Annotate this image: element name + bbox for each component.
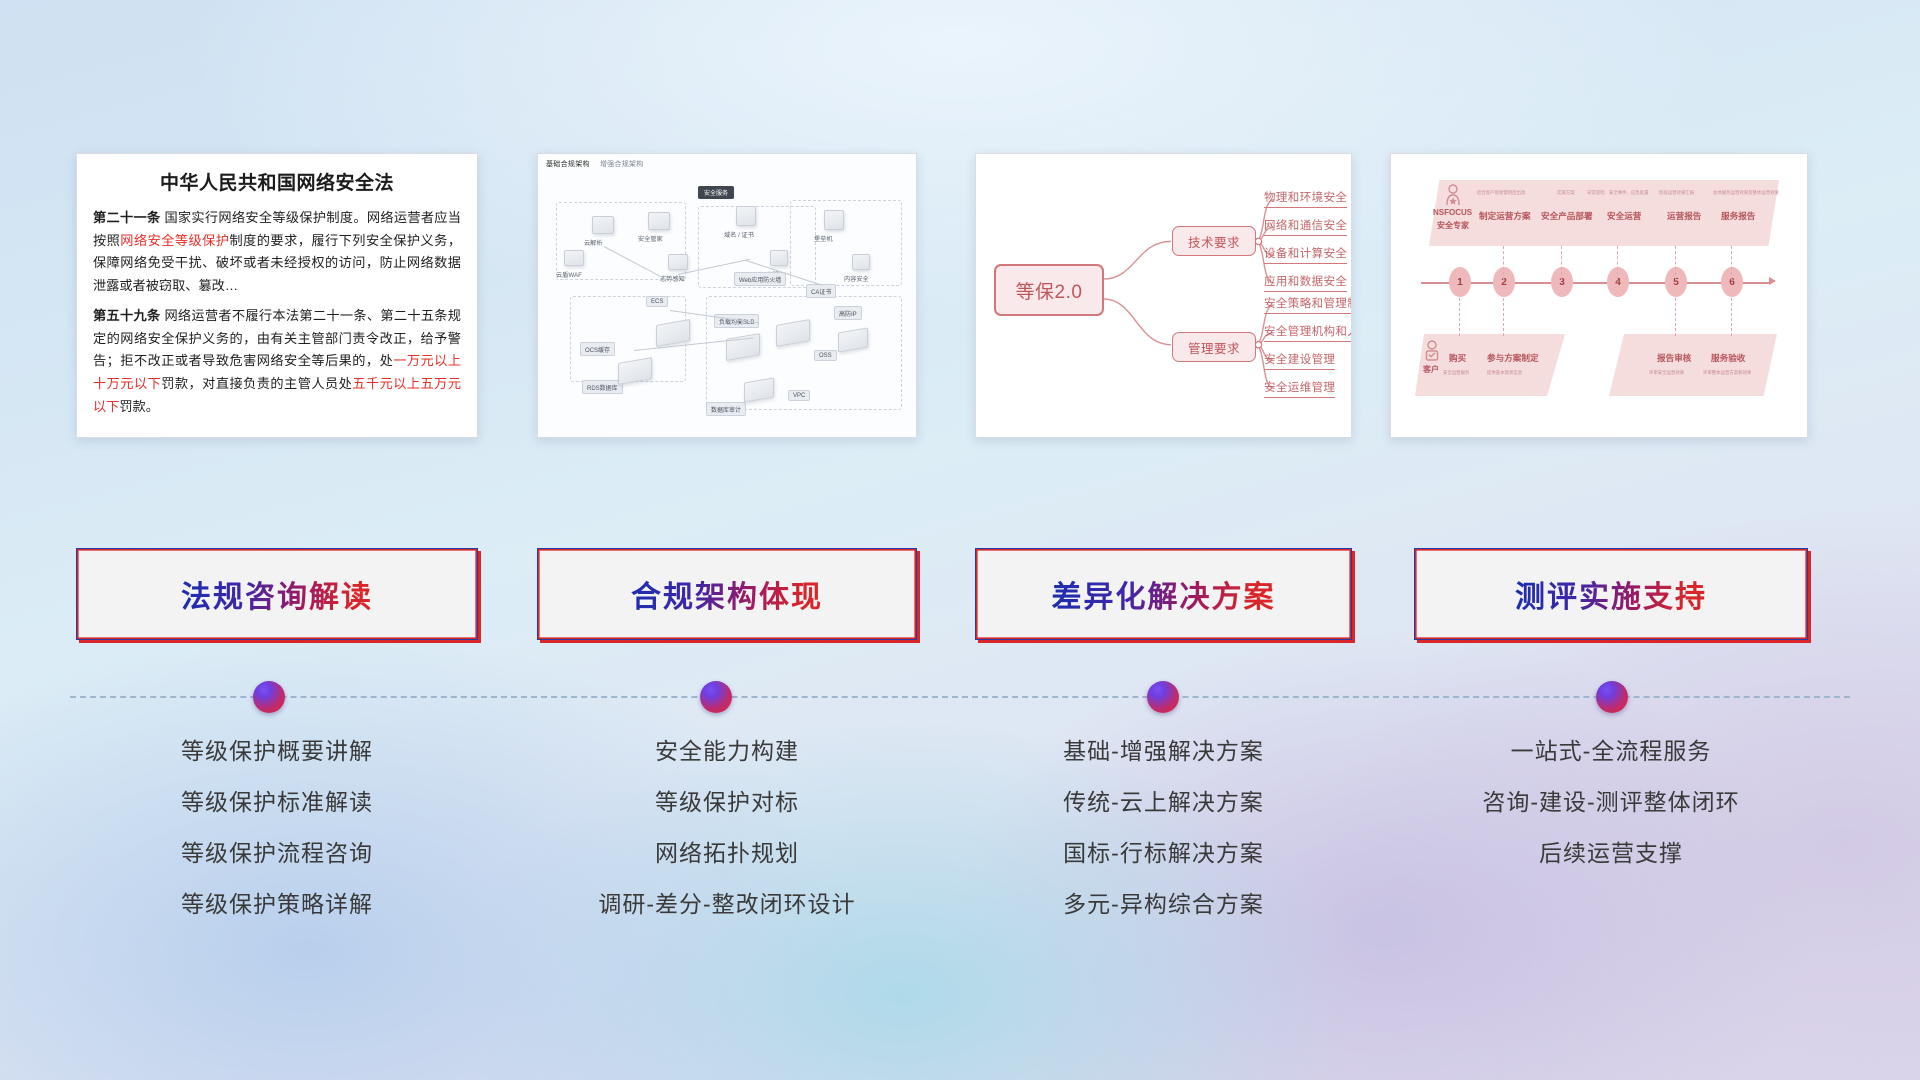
section-title-label-4: 测评实施支持 [1515,572,1707,616]
architecture-node-icon [852,254,870,270]
timeline-step-3[interactable]: 3 [1551,267,1573,297]
architecture-label-3: 堡垒机 [814,234,833,243]
mindmap-leaf-mgmt-3[interactable]: 安全运维管理 [1264,379,1335,398]
architecture-label-4: 云盾WAF [556,270,582,279]
expert-avatar-icon [1443,184,1463,206]
mindmap-collapse-toggle [1255,341,1261,347]
section-detail-row: 等级保护概要讲解 等级保护标准解读 等级保护流程咨询 等级保护策略详解 安全能力… [0,740,1920,970]
timeline-top-sub-2: 日常巡检、安全事件、应急处置 [1587,190,1648,196]
timeline-step-2[interactable]: 2 [1493,267,1515,297]
law-article-59-number: 第五十九条 [93,308,160,323]
architecture-label-15: RDS数据库 [582,380,623,394]
timeline-top-sub-3: 阶段运营效果汇报 [1659,190,1694,196]
architecture-badge: 安全服务 [698,186,734,199]
architecture-node-icon [770,250,788,266]
architecture-node-icon [824,210,844,230]
section-title-box-3[interactable]: 差异化解决方案 [975,548,1352,640]
section-title-box-1[interactable]: 法规咨询解读 [76,548,478,640]
preview-card-mindmap[interactable]: 等保2.0 技术要求 管理要求 物理和环境安全 网络和通信安全 设备和计算安全 … [975,153,1352,438]
mindmap-branch-management[interactable]: 管理要求 [1172,332,1256,362]
detail-item: 基础-增强解决方案 [975,740,1352,763]
timeline-rail [70,696,1850,698]
timeline-stem-bottom-2 [1503,298,1504,336]
preview-card-cloud-architecture[interactable]: 基础合规架构增强合规架构 安全服务 云解析 安全管家 域名 / 证书 堡垒机 云… [537,153,917,438]
timeline-stem-bottom-5 [1675,298,1676,336]
architecture-node-icon [668,254,688,270]
architecture-label-0: 云解析 [584,238,603,247]
section-title-box-2[interactable]: 合规架构体现 [537,548,917,640]
law-article-21: 第二十一条 国家实行网络安全等级保护制度。网络运营者应当按照网络安全等级保护制度… [93,207,461,298]
section-title-label-1: 法规咨询解读 [181,572,373,616]
mindmap-branch-management-label: 管理要求 [1188,338,1240,357]
mindmap-branch-technical[interactable]: 技术要求 [1172,226,1256,256]
mindmap-branch-technical-label: 技术要求 [1188,232,1240,251]
timeline-stem-top-4 [1675,246,1676,280]
timeline-marker-3[interactable] [1147,681,1179,713]
tab-basic-architecture[interactable]: 基础合规架构 [546,161,590,168]
architecture-node-icon [648,212,670,230]
detail-item: 网络拓扑规划 [537,842,917,865]
timeline-step-5[interactable]: 5 [1665,267,1687,297]
mindmap-collapse-toggle [1255,238,1261,244]
customer-avatar-icon [1423,340,1441,362]
detail-item: 后续运营支撑 [1414,842,1808,865]
timeline-stem-bottom-6 [1731,298,1732,336]
timeline-top-title-2: 安全运营 [1607,210,1641,222]
law-article-59-text-c: 罚款。 [119,399,159,414]
timeline-bottom-sub-0: 安全运营服务 [1443,370,1469,376]
timeline-stem-top-3 [1617,246,1618,280]
law-article-59: 第五十九条 网络运营者不履行本法第二十一条、第二十五条规定的网络安全保护义务的，… [93,305,461,419]
detail-item: 调研-差分-整改闭环设计 [537,893,917,916]
timeline-bottom-title-3: 服务验收 [1711,352,1745,364]
expert-name-line1: NSFOCUS [1433,208,1472,217]
timeline-bottom-title-1: 参与方案制定 [1487,352,1539,364]
section-detail-column-4: 一站式-全流程服务 咨询-建设-测评整体闭环 后续运营支撑 [1414,740,1808,893]
timeline-marker-1[interactable] [253,681,285,713]
timeline-bottom-sub-3: 评审整体运营方案和效果 [1703,370,1751,376]
section-detail-column-3: 基础-增强解决方案 传统-云上解决方案 国标-行标解决方案 多元-异构综合方案 [975,740,1352,944]
timeline-bottom-sub-2: 评审安全运营效果 [1649,370,1684,376]
timeline-marker-4[interactable] [1596,681,1628,713]
mindmap-leaf-mgmt-0[interactable]: 安全策略和管理制度 [1264,295,1352,314]
architecture-tabs: 基础合规架构增强合规架构 [546,159,654,169]
architecture-label-11: 高防IP [834,306,862,320]
mindmap-root-label: 等保2.0 [1016,277,1083,304]
timeline-top-title-1: 安全产品部署 [1541,210,1593,222]
section-detail-column-2: 安全能力构建 等级保护对标 网络拓扑规划 调研-差分-整改闭环设计 [537,740,917,944]
detail-item: 多元-异构综合方案 [975,893,1352,916]
preview-card-cybersecurity-law[interactable]: 中华人民共和国网络安全法 第二十一条 国家实行网络安全等级保护制度。网络运营者应… [76,153,478,438]
timeline-top-sub-0: 结合客户现状需明后出具 [1477,190,1525,196]
architecture-label-16: VPC [788,390,810,401]
section-title-row: 法规咨询解读 合规架构体现 差异化解决方案 测评实施支持 [0,548,1920,644]
mindmap-leaf-tech-2[interactable]: 设备和计算安全 [1264,245,1347,264]
mindmap-leaf-tech-3[interactable]: 应用和数据安全 [1264,273,1347,292]
law-document: 中华人民共和国网络安全法 第二十一条 国家实行网络安全等级保护制度。网络运营者应… [77,154,477,428]
service-timeline-diagram: NSFOCUS 安全专家 客户 结合客户现状需明后出具 制定运营方案 实施方案 … [1391,154,1807,437]
timeline-bottom-title-0: 购买 [1449,352,1466,364]
section-detail-column-1: 等级保护概要讲解 等级保护标准解读 等级保护流程咨询 等级保护策略详解 [76,740,478,944]
detail-item: 国标-行标解决方案 [975,842,1352,865]
timeline-top-title-4: 服务报告 [1721,210,1755,222]
architecture-node-icon [592,216,614,234]
detail-item: 等级保护概要讲解 [76,740,478,763]
expert-name-line2: 安全专家 [1437,220,1469,231]
detail-item: 一站式-全流程服务 [1414,740,1808,763]
timeline-customer-band-right [1609,334,1777,396]
timeline-step-6[interactable]: 6 [1721,267,1743,297]
law-article-21-number: 第二十一条 [93,210,160,225]
mindmap-leaf-mgmt-1[interactable]: 安全管理机构和人员 [1264,323,1352,342]
architecture-label-7: 内容安全 [844,274,869,283]
architecture-label-9: Web应用防火墙 [734,272,786,286]
mindmap-root-node[interactable]: 等保2.0 [994,264,1104,316]
law-article-59-text-b: 罚款，对直接负责的主管人员处 [161,376,352,391]
detail-item: 等级保护策略详解 [76,893,478,916]
timeline-step-1[interactable]: 1 [1449,267,1471,297]
law-article-21-highlight: 网络安全等级保护 [120,233,229,248]
section-title-label-3: 差异化解决方案 [1052,572,1276,616]
timeline-top-sub-4: 总体服务运营效果及整体运营效果 [1713,190,1779,196]
architecture-label-13: OSS [814,350,837,361]
mindmap-leaf-tech-0[interactable]: 物理和环境安全 [1264,189,1347,208]
section-title-label-2: 合规架构体现 [631,572,823,616]
timeline-bottom-title-2: 报告审核 [1657,352,1691,364]
mindmap-leaf-tech-1[interactable]: 网络和通信安全 [1264,217,1347,236]
tab-enhanced-architecture[interactable]: 增强合规架构 [600,161,644,168]
timeline-axis [1421,282,1771,284]
section-title-box-4[interactable]: 测评实施支持 [1414,548,1808,640]
architecture-label-17: 数据库审计 [706,402,746,416]
detail-item: 等级保护标准解读 [76,791,478,814]
architecture-node-icon [736,206,756,226]
detail-item: 传统-云上解决方案 [975,791,1352,814]
mindmap-leaf-mgmt-2[interactable]: 安全建设管理 [1264,351,1335,370]
timeline-stem-top-1 [1503,246,1504,280]
timeline-step-4[interactable]: 4 [1607,267,1629,297]
detail-item: 咨询-建设-测评整体闭环 [1414,791,1808,814]
detail-item: 安全能力构建 [537,740,917,763]
timeline-top-sub-1: 实施方案 [1557,190,1575,196]
timeline-marker-2[interactable] [700,681,732,713]
preview-card-row: 中华人民共和国网络安全法 第二十一条 国家实行网络安全等级保护制度。网络运营者应… [0,153,1920,443]
timeline-axis-arrow [1769,277,1776,285]
detail-item: 等级保护流程咨询 [76,842,478,865]
architecture-label-1: 安全管家 [638,234,663,243]
architecture-label-2: 域名 / 证书 [724,230,754,239]
customer-role-label: 客户 [1423,364,1439,375]
law-title: 中华人民共和国网络安全法 [93,168,461,195]
timeline-stem-top-5 [1731,246,1732,280]
timeline-stem-top-2 [1561,246,1562,280]
detail-item: 等级保护对标 [537,791,917,814]
timeline-stem-bottom-1 [1459,298,1460,336]
architecture-label-10: CA证书 [806,284,836,298]
timeline-top-title-3: 运营报告 [1667,210,1701,222]
mindmap-diagram: 等保2.0 技术要求 管理要求 物理和环境安全 网络和通信安全 设备和计算安全 … [976,154,1351,437]
preview-card-service-timeline[interactable]: NSFOCUS 安全专家 客户 结合客户现状需明后出具 制定运营方案 实施方案 … [1390,153,1808,438]
architecture-node-icon [564,250,584,266]
timeline-top-title-0: 制定运营方案 [1479,210,1531,222]
architecture-label-14: OCS缓存 [580,342,615,356]
timeline-bottom-sub-1: 提供基本现状信息 [1487,370,1522,376]
architecture-label-8: ECS [646,296,668,307]
architecture-diagram: 基础合规架构增强合规架构 安全服务 云解析 安全管家 域名 / 证书 堡垒机 云… [538,154,916,437]
